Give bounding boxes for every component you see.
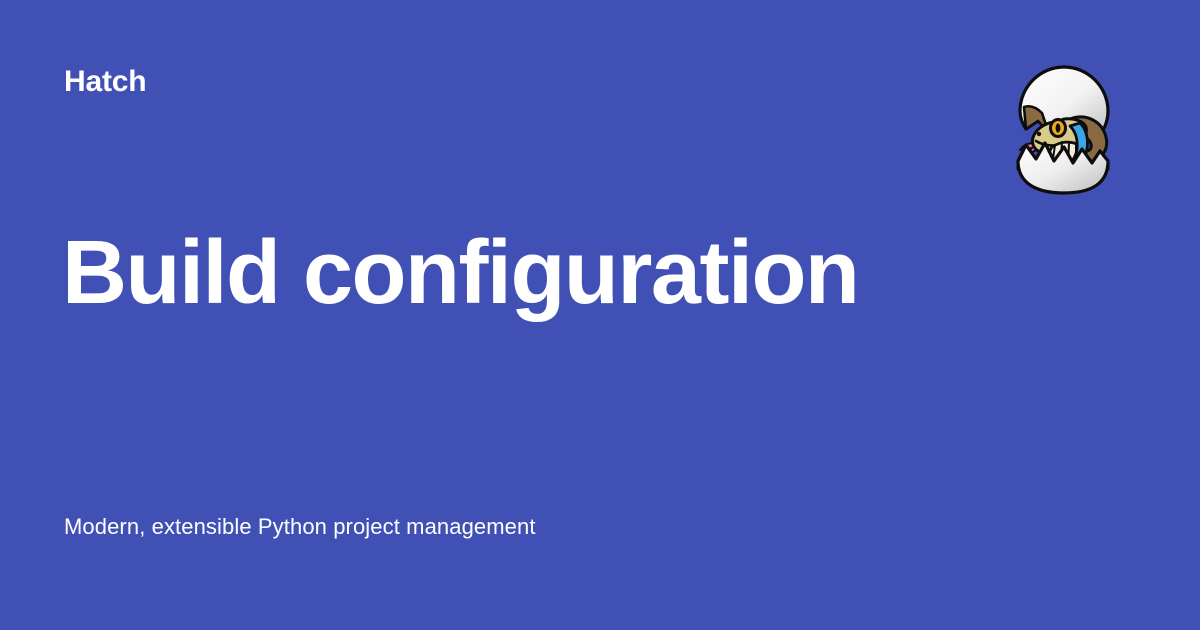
brand-name: Hatch xyxy=(64,62,146,102)
social-preview-card: Hatch Build configuration Modern, extens… xyxy=(0,0,1200,630)
snake-pupil xyxy=(1056,123,1061,132)
hatching-snake-egg-icon xyxy=(1012,65,1116,195)
page-subtitle: Modern, extensible Python project manage… xyxy=(64,512,536,542)
page-title: Build configuration xyxy=(62,223,858,323)
snake-nostril xyxy=(1037,132,1041,136)
